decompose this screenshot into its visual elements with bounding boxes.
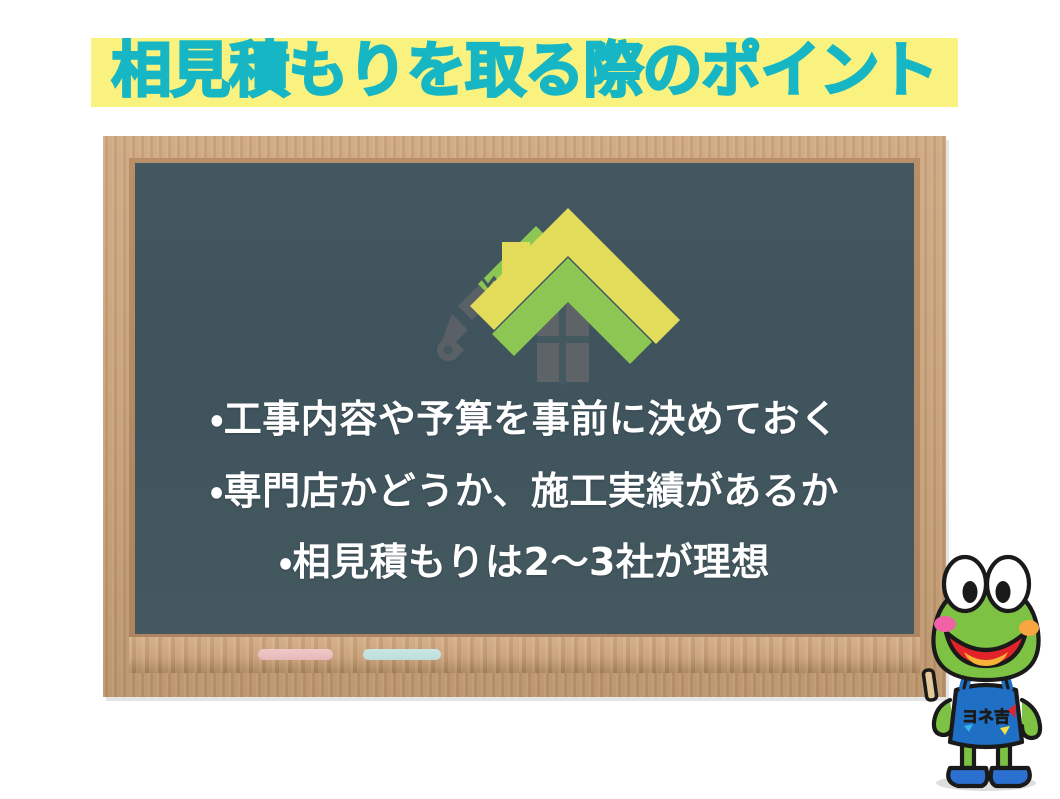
blue-chalk [363,649,441,660]
blackboard-text-list: ・工事内容や予算を事前に決めておく ・専門店かどうか、施工実績があるか ・相見積… [167,398,882,585]
mascot-overalls-label: ヨネ吉 [962,707,1010,726]
mascot-left-shoe [948,768,987,786]
page-title: 相見積もりを取る際のポイント [91,33,958,109]
mascot-right-shoe [991,768,1030,786]
mascot-left-cheek [934,616,956,632]
blackboard: ・工事内容や予算を事前に決めておく ・専門店かどうか、施工実績があるか ・相見積… [103,136,946,697]
frog-mascot: ヨネ吉 [912,540,1060,795]
blackboard-ledge [129,637,920,673]
mascot-right-cheek [1019,620,1039,636]
pink-chalk [258,649,333,660]
blackboard-surface: ・工事内容や予算を事前に決めておく ・専門店かどうか、施工実績があるか ・相見積… [135,163,914,634]
mascot-right-pupil [996,581,1011,603]
mascot-right-arm [1022,700,1040,738]
roof-paint-roller-icon [418,198,728,398]
mascot-left-pupil [963,581,978,603]
blackboard-line-1: ・工事内容や予算を事前に決めておく [210,398,838,442]
blackboard-line-3: ・相見積もりは2〜3社が理想 [279,541,770,585]
blackboard-line-2: ・専門店かどうか、施工実績があるか [210,470,839,514]
chalk-held-icon [923,669,937,700]
